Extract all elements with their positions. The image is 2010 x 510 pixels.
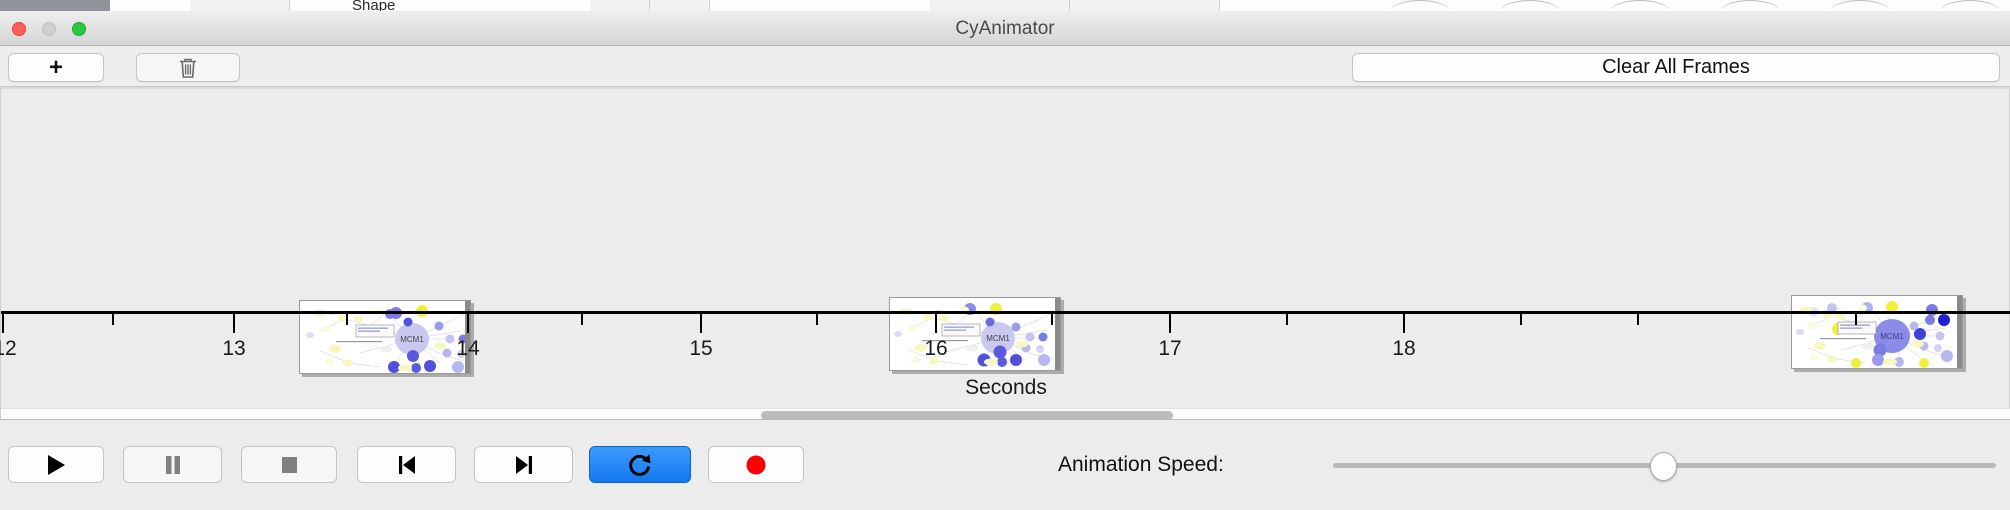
pause-button[interactable] bbox=[123, 446, 222, 483]
axis-label: 18 bbox=[1392, 337, 1415, 361]
animation-speed-label: Animation Speed: bbox=[1058, 453, 1224, 477]
title-bar: CyAnimator bbox=[0, 11, 2010, 46]
axis-tick-major bbox=[467, 314, 469, 333]
timeline-scrollbar[interactable] bbox=[1, 408, 2010, 419]
axis-tick-minor bbox=[816, 314, 818, 325]
stop-icon bbox=[278, 453, 300, 477]
axis-tick-minor bbox=[112, 314, 114, 325]
window-title: CyAnimator bbox=[0, 11, 2010, 46]
axis-tick-minor bbox=[1637, 314, 1639, 325]
svg-text:MCM1: MCM1 bbox=[1880, 332, 1904, 341]
clear-all-frames-label: Clear All Frames bbox=[1602, 56, 1750, 79]
add-frame-button[interactable]: + bbox=[8, 53, 104, 82]
axis-label: 12 bbox=[0, 337, 17, 361]
axis-label: 14 bbox=[456, 337, 479, 361]
skip-back-button[interactable] bbox=[357, 446, 456, 483]
network-graph-icon: MCM1 bbox=[1792, 296, 1963, 369]
plus-icon: + bbox=[49, 56, 63, 80]
play-icon bbox=[45, 453, 67, 477]
transport-bar: Animation Speed: bbox=[0, 419, 2010, 510]
record-icon bbox=[744, 453, 768, 477]
axis-tick-major bbox=[1403, 314, 1405, 333]
keyframe-thumbnail[interactable]: MCM1 bbox=[889, 297, 1061, 371]
network-graph-icon: MCM1 bbox=[890, 298, 1061, 371]
toolbar: + Clear All Frames bbox=[0, 46, 2010, 87]
record-button[interactable] bbox=[708, 446, 804, 483]
panel-divider bbox=[1, 87, 2010, 89]
axis-tick-minor bbox=[1286, 314, 1288, 325]
keyframe-thumbnail[interactable]: MCM1 bbox=[1791, 295, 1963, 369]
delete-frame-button[interactable] bbox=[136, 53, 240, 82]
loop-icon bbox=[627, 452, 653, 478]
axis-tick-minor bbox=[1855, 314, 1857, 325]
axis-label: 16 bbox=[924, 337, 947, 361]
cyanimator-window: Shape CyAnimator + Clear All Frames bbox=[0, 0, 2010, 510]
skip-forward-button[interactable] bbox=[474, 446, 573, 483]
clear-all-frames-button[interactable]: Clear All Frames bbox=[1352, 53, 2000, 82]
frame-edge bbox=[1055, 298, 1060, 370]
axis-tick-major bbox=[2, 314, 4, 333]
svg-text:MCM1: MCM1 bbox=[986, 334, 1010, 343]
stop-button[interactable] bbox=[241, 446, 337, 483]
axis-tick-major bbox=[1169, 314, 1171, 333]
trash-icon bbox=[178, 57, 198, 79]
pause-icon bbox=[162, 453, 184, 477]
timeline-panel[interactable]: MCM1 bbox=[0, 87, 2010, 419]
axis-title: Seconds bbox=[1, 376, 2010, 400]
axis-tick-major bbox=[233, 314, 235, 333]
skip-forward-icon bbox=[513, 453, 535, 477]
axis-tick-minor bbox=[1520, 314, 1522, 325]
skip-back-icon bbox=[396, 453, 418, 477]
loop-button[interactable] bbox=[589, 446, 691, 483]
frame-edge bbox=[1957, 296, 1962, 368]
axis-tick-major bbox=[700, 314, 702, 333]
axis-tick-minor bbox=[581, 314, 583, 325]
axis-label: 17 bbox=[1158, 337, 1181, 361]
axis-tick-major bbox=[935, 314, 937, 333]
timeline-axis bbox=[1, 311, 2010, 314]
axis-tick-minor bbox=[346, 314, 348, 325]
axis-label: 15 bbox=[689, 337, 712, 361]
axis-tick-minor bbox=[1051, 314, 1053, 325]
play-button[interactable] bbox=[8, 446, 104, 483]
animation-speed-slider-thumb[interactable] bbox=[1650, 452, 1677, 481]
axis-label: 13 bbox=[222, 337, 245, 361]
svg-text:MCM1: MCM1 bbox=[400, 335, 424, 344]
